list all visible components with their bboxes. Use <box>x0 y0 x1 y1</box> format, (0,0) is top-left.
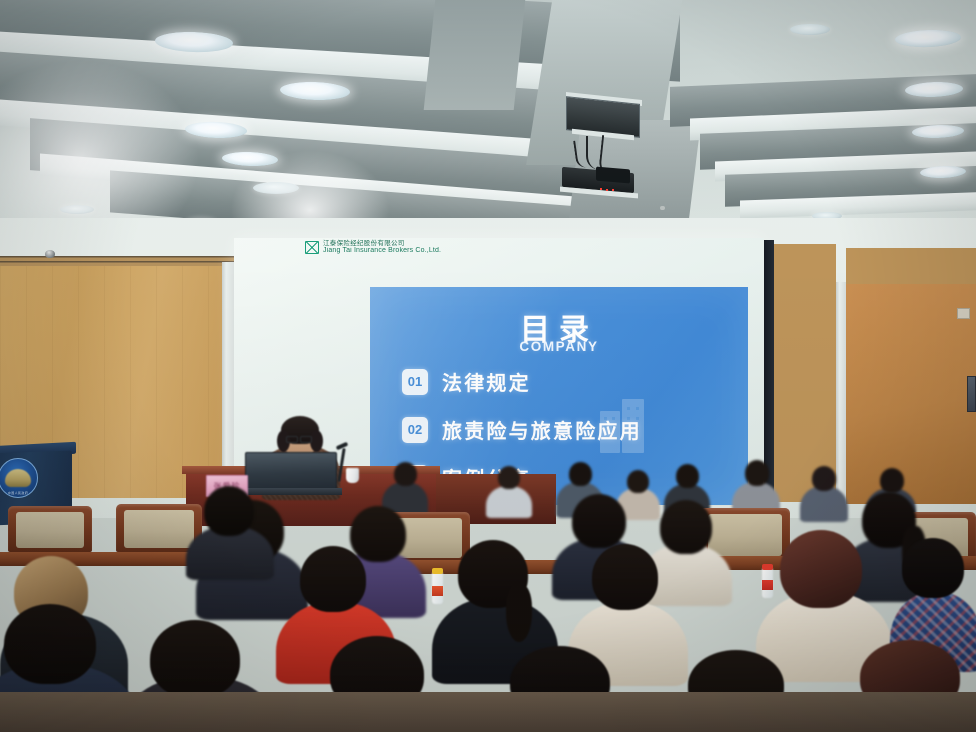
toc-number-badge: 01 <box>402 369 428 395</box>
seat-cushion <box>16 512 84 548</box>
toc-item-02: 02 旅责险与旅意险应用 <box>402 415 642 444</box>
ceiling-downlight <box>790 24 830 35</box>
wall-outlet-plate <box>957 308 970 319</box>
water-cup <box>346 468 359 483</box>
eyeglasses-icon <box>286 436 298 443</box>
floor <box>0 692 976 732</box>
attendee <box>732 460 780 514</box>
toc-item-01: 01 法律规定 <box>402 367 531 396</box>
seat-cushion <box>124 510 194 548</box>
slide-subtitle: COMPANY <box>370 339 748 354</box>
dome-camera-icon <box>45 250 55 258</box>
ceiling-downlight <box>895 29 962 48</box>
emblem-caption: 中国人民政府 <box>0 491 37 495</box>
government-emblem-icon: 中国人民政府 <box>0 458 38 498</box>
wood-slat-acoustic-panel <box>774 244 836 502</box>
laptop-screen[interactable] <box>245 452 337 490</box>
jiang-tai-logo-icon <box>305 241 319 254</box>
ceiling <box>0 0 976 250</box>
wall-sign <box>967 376 976 412</box>
conference-hall-photo: 江泰保险经纪股份有限公司 Jiang Tai Insurance Brokers… <box>0 0 976 732</box>
company-logo: 江泰保险经纪股份有限公司 Jiang Tai Insurance Brokers… <box>305 240 441 255</box>
attendee <box>382 462 428 510</box>
logo-english-name: Jiang Tai Insurance Brokers Co.,Ltd. <box>323 247 441 255</box>
ceiling-downlight <box>253 182 299 194</box>
ceiling-spine <box>424 0 527 110</box>
ceiling-downlight <box>60 205 94 214</box>
fire-sprinkler-icon <box>660 206 665 210</box>
toc-label: 法律规定 <box>442 367 531 396</box>
logo-chinese-name: 江泰保险经纪股份有限公司 <box>323 240 441 247</box>
wood-slat-acoustic-panel <box>846 248 976 286</box>
toc-label: 旅责险与旅意险应用 <box>442 415 642 444</box>
attendee <box>186 486 274 572</box>
wall-pillar <box>222 262 234 498</box>
eyeglasses-icon <box>300 436 312 443</box>
toc-number-badge: 02 <box>402 417 428 443</box>
attendee <box>486 466 532 512</box>
